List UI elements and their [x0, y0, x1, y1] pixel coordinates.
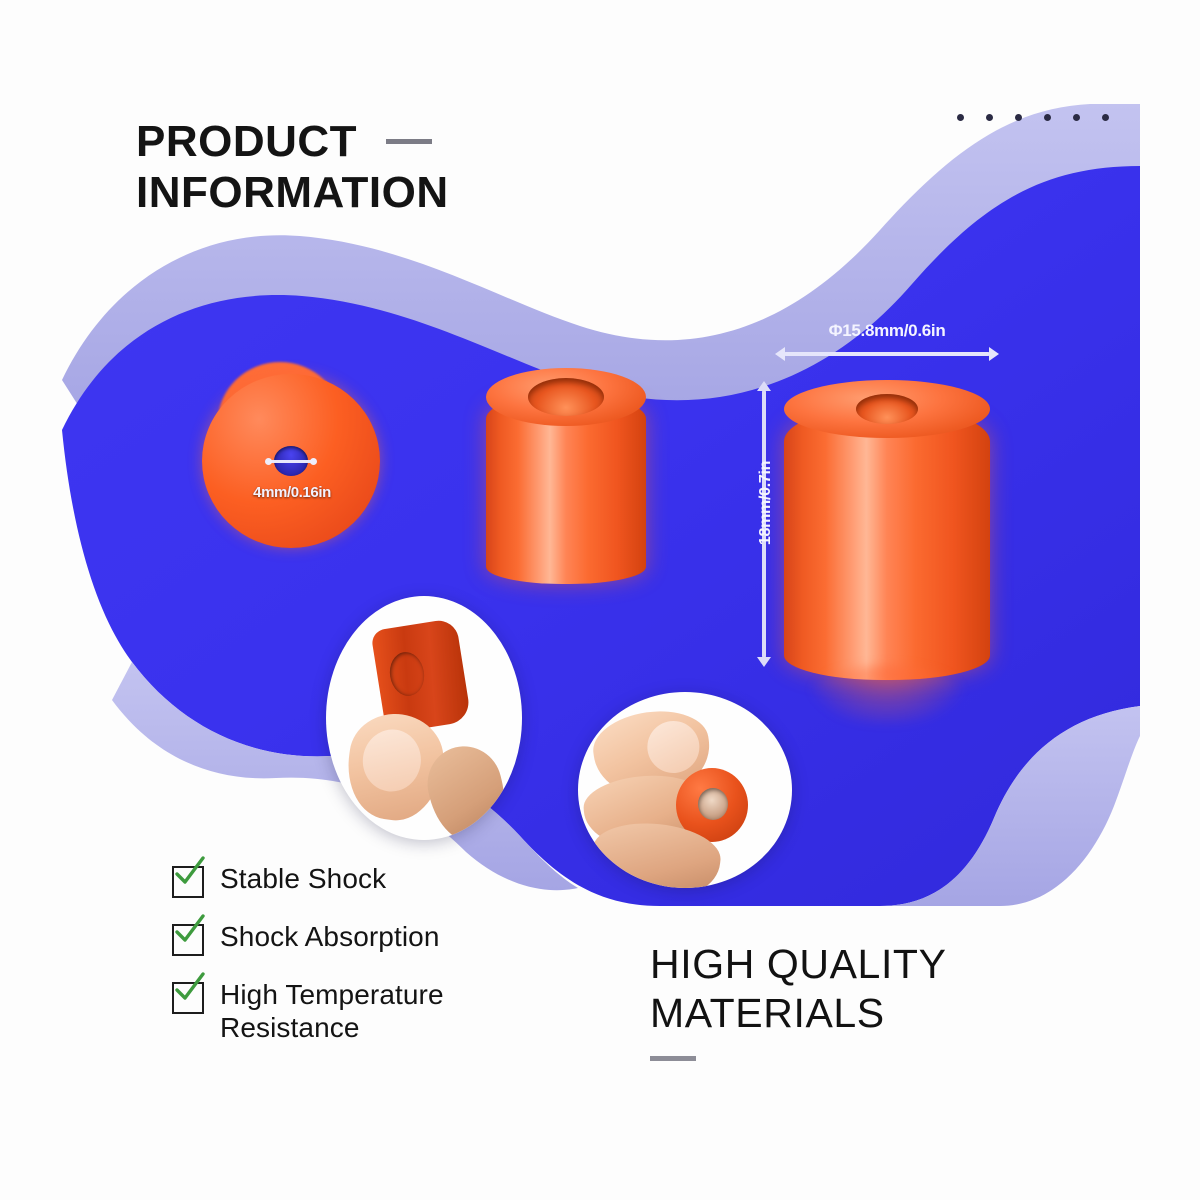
product-damper-topdown: 4mm/0.16in [196, 362, 392, 558]
section-heading-line2: MATERIALS [650, 989, 1120, 1038]
feature-label: High Temperature Resistance [220, 978, 572, 1044]
product-damper-large [784, 380, 990, 680]
decorative-dot [957, 114, 964, 121]
lavender-wave-lower-right [880, 706, 1140, 906]
page-title-line1: PRODUCT [136, 117, 357, 166]
section-heading-high-quality-materials: HIGH QUALITY MATERIALS [650, 940, 1120, 1061]
decorative-dot [1102, 114, 1109, 121]
fingernail [359, 726, 425, 795]
product-information-infographic: PRODUCT INFORMATION 4mm/0.16in Φ15.8mm/0… [0, 0, 1200, 1200]
damper-side-wall [784, 406, 990, 680]
feature-label: Stable Shock [220, 862, 386, 895]
feature-item-stable-shock: Stable Shock [172, 862, 572, 898]
feature-label: Shock Absorption [220, 920, 440, 953]
feature-item-high-temperature-resistance: High Temperature Resistance [172, 978, 572, 1044]
checkbox-checked[interactable] [172, 866, 204, 898]
section-heading-line1: HIGH QUALITY [650, 940, 1120, 989]
arrow-up-icon [757, 381, 771, 391]
hole-dimension-label: 4mm/0.16in [204, 484, 380, 501]
arrow-right-icon [989, 347, 999, 361]
page-title-line2: INFORMATION [136, 167, 656, 218]
page-title: PRODUCT INFORMATION [136, 116, 656, 218]
photo-inset-hand-holding-damper-washer [578, 692, 792, 888]
damper-center-hole [528, 378, 604, 416]
decorative-dot [1015, 114, 1022, 121]
dimension-width-label: Φ15.8mm/0.6in [780, 321, 994, 341]
damper-reflection [809, 666, 966, 724]
damper-hole [698, 788, 728, 820]
checkbox-checked[interactable] [172, 982, 204, 1014]
damper-center-hole [856, 394, 918, 424]
decorative-dot-row [957, 114, 1109, 121]
decorative-dot [1044, 114, 1051, 121]
feature-item-shock-absorption: Shock Absorption [172, 920, 572, 956]
fingernail [644, 718, 703, 777]
em-dash-icon [386, 139, 432, 144]
checkbox-checked[interactable] [172, 924, 204, 956]
decorative-dot [986, 114, 993, 121]
dimension-width-bar-icon [784, 352, 990, 356]
decorative-dot [1073, 114, 1080, 121]
arrow-left-icon [775, 347, 785, 361]
dimension-height-label: 18mm/0.7in [757, 423, 775, 583]
check-icon [172, 970, 206, 1004]
arrow-down-icon [757, 657, 771, 667]
photo-inset-hand-holding-damper-side [326, 596, 522, 840]
product-damper-medium [486, 368, 646, 584]
check-icon [172, 854, 206, 888]
feature-list: Stable Shock Shock Absorption High Tempe… [172, 862, 572, 1044]
hole-dimension-line-icon [269, 460, 313, 463]
section-heading-rule [650, 1056, 696, 1061]
check-icon [172, 912, 206, 946]
